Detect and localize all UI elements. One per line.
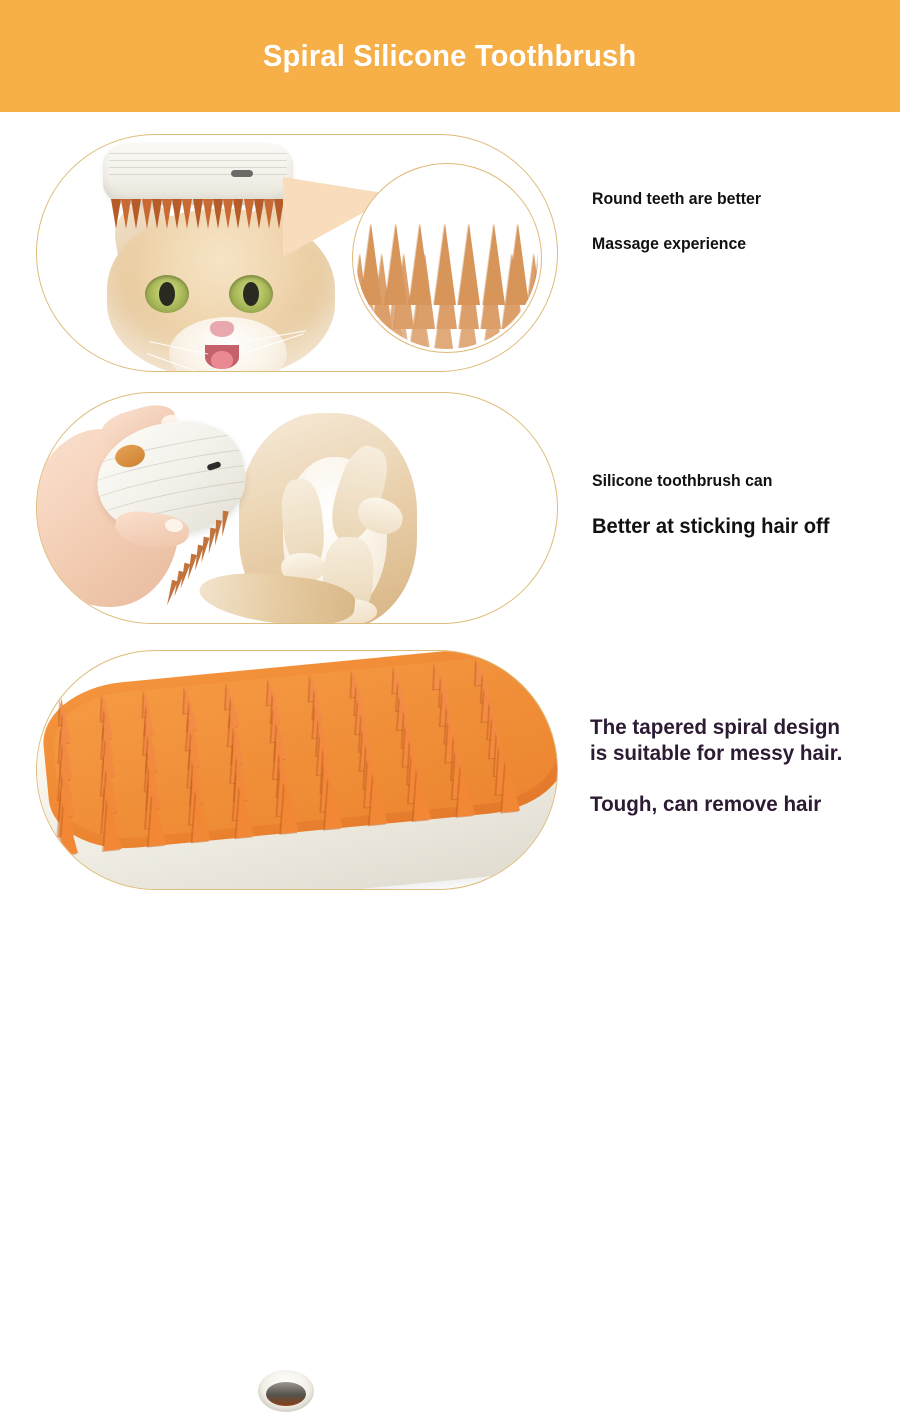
panel-2-caption-2: Better at sticking hair off — [592, 515, 829, 539]
center-steam-nozzle — [258, 1370, 314, 1412]
panel-3-caption-1: The tapered spiral design is suitable fo… — [590, 714, 842, 766]
cat-pupil-right — [243, 282, 259, 306]
magnified-bristle-cone — [532, 223, 539, 305]
panel-3-caption-2: Tough, can remove hair — [590, 792, 842, 817]
feature-panel-3: The tapered spiral design is suitable fo… — [0, 642, 900, 900]
brush-bristle — [244, 199, 254, 229]
feature-panel-2: Silicone toothbrush can Better at sticki… — [0, 382, 900, 642]
magnified-bristle-cone — [360, 223, 382, 305]
cat-eye-right — [229, 275, 273, 313]
brush-bristle — [213, 199, 223, 229]
magnified-bristle-cone — [385, 223, 407, 305]
brush-bristle — [264, 199, 274, 229]
brush-bristle — [223, 199, 233, 229]
brush-bristle — [142, 199, 152, 229]
brush-bristle — [193, 199, 203, 229]
cat-eye-left — [145, 275, 189, 313]
header-banner: Spiral Silicone Toothbrush — [0, 0, 900, 112]
panel-3-caption-line-b: is suitable for messy hair. — [590, 741, 842, 765]
cat-tongue — [211, 351, 233, 369]
magnified-bristle-cone — [507, 223, 529, 305]
panel-3-image-frame — [36, 650, 558, 890]
magnified-bristle-cone — [458, 223, 480, 305]
nozzle-opening — [266, 1382, 306, 1406]
magnifier-circle — [352, 163, 542, 353]
panel-3-artwork — [37, 651, 557, 889]
magnified-bristle-cone — [409, 223, 431, 305]
brush-bristle — [111, 199, 121, 229]
device-ridge — [109, 153, 287, 154]
usb-c-port-icon — [231, 170, 253, 177]
panel-3-captions: The tapered spiral design is suitable fo… — [590, 714, 853, 817]
device-bristle-row — [165, 511, 231, 601]
brush-bristle — [203, 199, 213, 229]
panel-1-artwork — [37, 135, 557, 371]
device-ridge — [109, 160, 287, 161]
panel-2-image-frame — [36, 392, 558, 624]
page-title: Spiral Silicone Toothbrush — [263, 38, 636, 74]
brush-bristle — [152, 199, 162, 229]
panel-2-captions: Silicone toothbrush can Better at sticki… — [592, 472, 839, 539]
magnified-bristle-cone — [483, 223, 505, 305]
device-ridge — [109, 174, 287, 175]
brush-device-body — [103, 143, 293, 205]
panel-1-captions: Round teeth are better Massage experienc… — [592, 190, 768, 254]
cat-nose — [210, 321, 234, 337]
brush-bristle — [233, 199, 243, 229]
panel-1-image-frame — [36, 134, 558, 372]
cat-open-mouth — [205, 345, 239, 369]
panel-1-caption-2: Massage experience — [592, 235, 761, 254]
brush-bristle — [172, 199, 182, 229]
panel-1-caption-1: Round teeth are better — [592, 190, 761, 209]
feature-panel-1: Round teeth are better Massage experienc… — [0, 112, 900, 382]
magnifier-content — [356, 167, 538, 349]
device-bristle-row — [111, 199, 287, 233]
brush-bristle — [182, 199, 192, 229]
brush-bristle — [121, 199, 131, 229]
magnified-bristle-cone — [434, 223, 456, 305]
panel-3-caption-line-a: The tapered spiral design — [590, 715, 840, 739]
device-ridge — [109, 167, 287, 168]
brush-bristle — [254, 199, 264, 229]
panel-2-artwork — [37, 393, 557, 623]
panel-2-caption-1: Silicone toothbrush can — [592, 472, 829, 491]
brush-bristle — [131, 199, 141, 229]
brush-bristle — [162, 199, 172, 229]
cat-pupil-left — [159, 282, 175, 306]
